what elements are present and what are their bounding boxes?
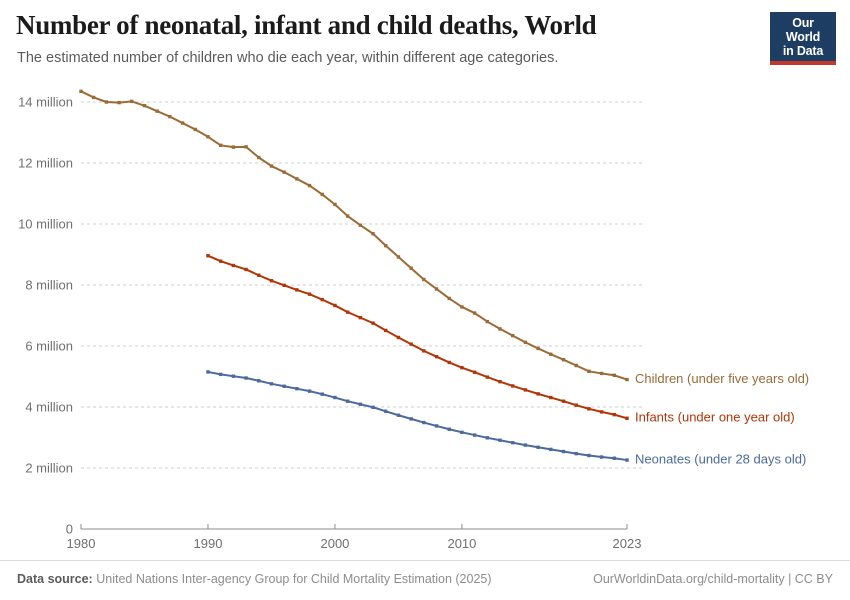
data-point-marker[interactable] [536,392,539,395]
data-point-marker[interactable] [295,387,298,390]
data-point-marker[interactable] [486,375,489,378]
series-label[interactable]: Neonates (under 28 days old) [635,452,806,467]
data-point-marker[interactable] [257,379,260,382]
data-point-marker[interactable] [232,264,235,267]
chart-footer: Data source: United Nations Inter-agency… [0,560,850,600]
chart-plot-area[interactable]: 02 million4 million6 million8 million10 … [0,78,850,560]
data-point-marker[interactable] [536,347,539,350]
data-point-marker[interactable] [206,370,209,373]
data-point-marker[interactable] [460,366,463,369]
chart-subtitle: The estimated number of children who die… [17,50,558,66]
data-point-marker[interactable] [397,414,400,417]
data-point-marker[interactable] [486,320,489,323]
data-point-marker[interactable] [105,100,108,103]
data-point-marker[interactable] [422,349,425,352]
x-axis-tick-label: 2000 [320,536,349,551]
data-point-marker[interactable] [562,400,565,403]
data-series-group[interactable] [79,90,628,462]
data-point-marker[interactable] [511,384,514,387]
owid-logo[interactable]: Our World in Data [770,12,836,65]
data-point-marker[interactable] [346,214,349,217]
owid-logo-line-2: in Data [774,44,832,61]
data-point-marker[interactable] [587,370,590,373]
data-point-marker[interactable] [79,90,82,93]
data-point-marker[interactable] [244,145,247,148]
data-point-marker[interactable] [308,292,311,295]
x-axis [81,524,627,529]
data-point-marker[interactable] [575,452,578,455]
data-point-marker[interactable] [371,321,374,324]
x-axis-tick-label: 1980 [67,536,96,551]
data-point-marker[interactable] [206,135,209,138]
data-point-marker[interactable] [346,400,349,403]
data-point-marker[interactable] [244,268,247,271]
data-point-marker[interactable] [625,378,628,381]
data-point-marker[interactable] [536,446,539,449]
data-point-marker[interactable] [587,407,590,410]
data-point-marker[interactable] [460,305,463,308]
data-point-marker[interactable] [321,298,324,301]
x-axis-tick-label: 2010 [447,536,476,551]
data-point-marker[interactable] [562,358,565,361]
data-point-marker[interactable] [384,329,387,332]
data-point-marker[interactable] [308,389,311,392]
data-point-marker[interactable] [473,311,476,314]
data-point-marker[interactable] [333,304,336,307]
data-point-marker[interactable] [206,254,209,257]
data-point-marker[interactable] [575,403,578,406]
series-label[interactable]: Infants (under one year old) [635,410,795,425]
data-point-marker[interactable] [346,310,349,313]
data-point-marker[interactable] [359,403,362,406]
data-point-marker[interactable] [282,385,285,388]
data-point-marker[interactable] [232,145,235,148]
data-point-marker[interactable] [333,203,336,206]
data-point-marker[interactable] [625,458,628,461]
y-axis-tick-label: 8 million [25,278,73,293]
data-point-marker[interactable] [397,336,400,339]
data-point-marker[interactable] [435,424,438,427]
data-point-marker[interactable] [460,431,463,434]
y-axis-tick-label: 4 million [25,400,73,415]
data-point-marker[interactable] [384,410,387,413]
data-point-marker[interactable] [359,224,362,227]
data-point-marker[interactable] [270,382,273,385]
chart-header: Number of neonatal, infant and child dea… [0,0,850,78]
data-point-marker[interactable] [575,364,578,367]
data-point-marker[interactable] [422,421,425,424]
data-point-marker[interactable] [321,392,324,395]
data-point-marker[interactable] [244,376,247,379]
data-point-marker[interactable] [270,279,273,282]
data-point-marker[interactable] [435,355,438,358]
data-point-marker[interactable] [498,380,501,383]
data-point-marker[interactable] [613,457,616,460]
page-title: Number of neonatal, infant and child dea… [16,10,596,41]
y-axis-tick-labels: 02 million4 million6 million8 million10 … [18,95,73,537]
data-point-marker[interactable] [409,267,412,270]
x-axis-tick-labels: 19801990200020102023 [67,536,642,551]
data-point-marker[interactable] [511,334,514,337]
data-point-marker[interactable] [486,436,489,439]
data-point-marker[interactable] [435,287,438,290]
data-point-marker[interactable] [524,341,527,344]
series-label[interactable]: Children (under five years old) [635,371,809,386]
data-point-marker[interactable] [498,439,501,442]
x-axis-tick-label: 2023 [613,536,642,551]
data-point-marker[interactable] [295,177,298,180]
series-labels-group[interactable]: Children (under five years old)Infants (… [635,371,809,467]
y-axis-tick-label: 14 million [18,95,73,110]
data-point-marker[interactable] [270,164,273,167]
data-point-marker[interactable] [371,232,374,235]
series-line[interactable] [81,91,627,379]
data-point-marker[interactable] [524,443,527,446]
data-point-marker[interactable] [168,115,171,118]
data-point-marker[interactable] [600,372,603,375]
gridlines-group [81,102,645,468]
y-axis-tick-label: 10 million [18,217,73,232]
line-chart-svg[interactable]: 02 million4 million6 million8 million10 … [0,78,850,560]
data-point-marker[interactable] [92,96,95,99]
data-source-label: Data source: [17,572,93,586]
data-point-marker[interactable] [511,441,514,444]
data-point-marker[interactable] [257,156,260,159]
data-point-marker[interactable] [371,406,374,409]
data-point-marker[interactable] [498,327,501,330]
owid-logo-line-1: Our World [774,16,832,44]
data-point-marker[interactable] [181,121,184,124]
data-point-marker[interactable] [359,316,362,319]
y-axis-tick-label: 2 million [25,461,73,476]
data-point-marker[interactable] [448,428,451,431]
data-point-marker[interactable] [130,100,133,103]
data-point-marker[interactable] [194,128,197,131]
data-point-marker[interactable] [473,371,476,374]
data-point-marker[interactable] [308,184,311,187]
data-point-marker[interactable] [219,260,222,263]
data-point-marker[interactable] [600,455,603,458]
data-point-marker[interactable] [219,144,222,147]
data-point-marker[interactable] [321,193,324,196]
data-point-marker[interactable] [117,101,120,104]
data-point-marker[interactable] [549,396,552,399]
y-axis-tick-label: 0 [66,522,73,537]
data-point-marker[interactable] [155,109,158,112]
data-point-marker[interactable] [409,342,412,345]
data-point-marker[interactable] [600,410,603,413]
data-point-marker[interactable] [333,396,336,399]
data-point-marker[interactable] [448,297,451,300]
owid-url-license[interactable]: OurWorldinData.org/child-mortality | CC … [593,572,833,586]
data-point-marker[interactable] [613,374,616,377]
data-point-marker[interactable] [549,353,552,356]
data-point-marker[interactable] [473,433,476,436]
data-point-marker[interactable] [524,388,527,391]
data-point-marker[interactable] [409,417,412,420]
data-point-marker[interactable] [232,375,235,378]
data-point-marker[interactable] [448,361,451,364]
data-point-marker[interactable] [295,288,298,291]
data-point-marker[interactable] [422,278,425,281]
data-point-marker[interactable] [549,448,552,451]
x-axis-tick-label: 1990 [194,536,223,551]
data-point-marker[interactable] [282,170,285,173]
data-point-marker[interactable] [384,244,387,247]
data-point-marker[interactable] [219,373,222,376]
data-point-marker[interactable] [257,274,260,277]
data-point-marker[interactable] [282,284,285,287]
y-axis-tick-label: 12 million [18,156,73,171]
data-point-marker[interactable] [625,417,628,420]
data-point-marker[interactable] [397,255,400,258]
data-point-marker[interactable] [613,413,616,416]
data-point-marker[interactable] [143,104,146,107]
data-point-marker[interactable] [562,450,565,453]
data-source-value: United Nations Inter-agency Group for Ch… [96,572,491,586]
data-source-text: Data source: United Nations Inter-agency… [17,572,492,586]
data-point-marker[interactable] [587,454,590,457]
y-axis-tick-label: 6 million [25,339,73,354]
